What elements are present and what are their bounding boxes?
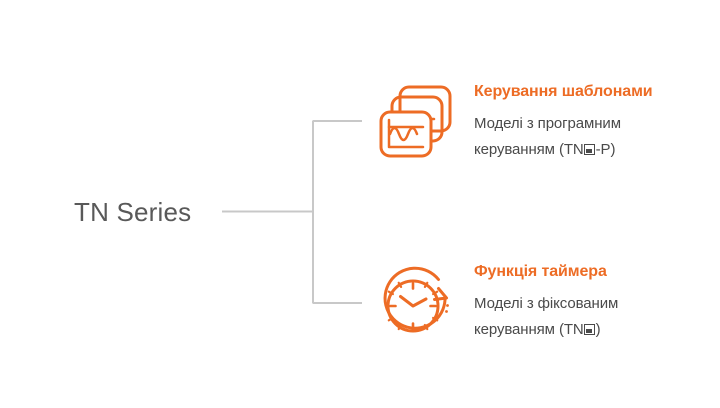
branch-title: Керування шаблонами (474, 82, 653, 102)
model-code-suffix: ) (596, 321, 601, 338)
branch-description-line-2: керуванням (TN-P) (474, 137, 653, 163)
branch-description: Моделі з програмним керуванням (TN-P) (474, 111, 653, 163)
branch-description-line-2: керуванням (TN) (474, 317, 618, 343)
stacked-template-cards-icon (372, 78, 464, 170)
missing-glyph-box-icon (584, 324, 595, 335)
branch-description-line-1: Моделі з програмним (474, 111, 653, 137)
diagram-canvas: TN Series (0, 0, 720, 408)
branch-description: Моделі з фіксованим керуванням (TN) (474, 291, 618, 343)
missing-glyph-box-icon (584, 144, 595, 155)
model-code-prefix: керуванням (TN (474, 141, 584, 158)
branch-description-line-1: Моделі з фіксованим (474, 291, 618, 317)
branch-title: Функція таймера (474, 262, 618, 282)
model-code-suffix: -P) (596, 141, 616, 158)
root-node-label: TN Series (74, 195, 191, 229)
branch-template-management[interactable]: Керування шаблонами Моделі з програмним … (372, 78, 653, 170)
clock-refresh-icon (372, 258, 464, 350)
branch-text-block: Функція таймера Моделі з фіксованим керу… (464, 258, 618, 343)
branch-timer-function[interactable]: Функція таймера Моделі з фіксованим керу… (372, 258, 618, 350)
branch-text-block: Керування шаблонами Моделі з програмним … (464, 78, 653, 163)
model-code-prefix: керуванням (TN (474, 321, 584, 338)
